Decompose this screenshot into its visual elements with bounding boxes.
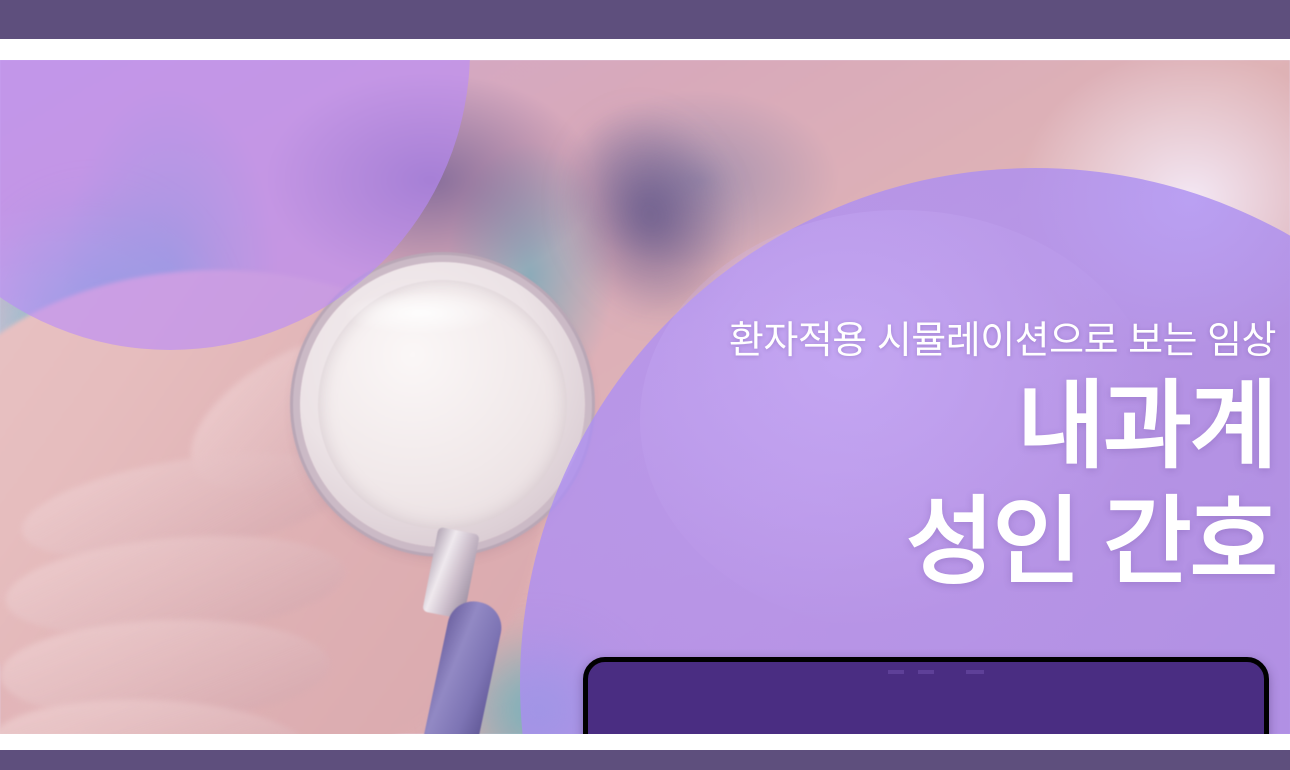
- cta-panel-placeholder-marks: [888, 670, 998, 674]
- stethoscope-icon: [300, 262, 585, 547]
- banner-subtitle: 환자적용 시뮬레이션으로 보는 임상: [729, 322, 1276, 362]
- screen-root: 환자적용 시뮬레이션으로 보는 임상 내과계 성인 간호: [0, 0, 1290, 770]
- banner-title-line2: 성인 간호: [729, 492, 1276, 594]
- top-chrome-bar: [0, 0, 1290, 39]
- bottom-chrome-bar: [0, 750, 1290, 770]
- headline-block: 환자적용 시뮬레이션으로 보는 임상 내과계 성인 간호: [729, 322, 1276, 593]
- hero-banner: 환자적용 시뮬레이션으로 보는 임상 내과계 성인 간호: [0, 60, 1290, 734]
- cta-panel[interactable]: [583, 657, 1269, 734]
- banner-title-line1: 내과계: [729, 376, 1276, 478]
- stethoscope-highlight: [346, 292, 496, 334]
